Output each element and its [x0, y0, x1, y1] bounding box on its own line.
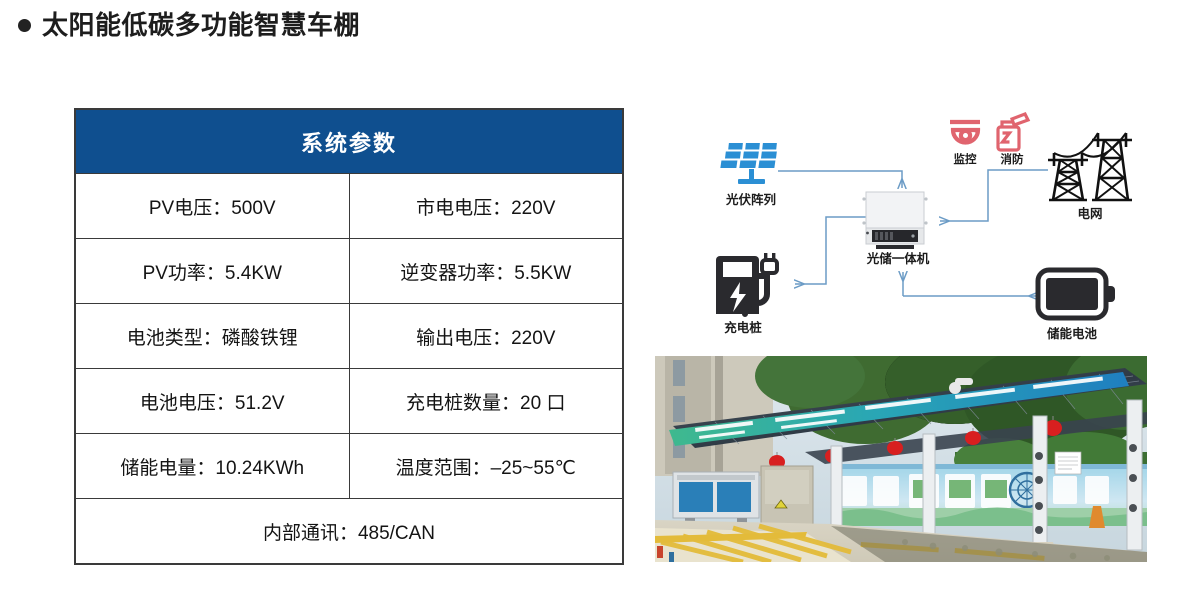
- node-label-inverter: 光储一体机: [866, 251, 930, 266]
- spec-cell-inverter-power: 逆变器功率：5.5KW: [349, 239, 623, 304]
- spec-cell-grid-voltage: 市电电压：220V: [349, 174, 623, 239]
- flow-grid-to-inverter: [940, 170, 1048, 221]
- spec-cell-output-voltage: 输出电压：220V: [349, 304, 623, 369]
- inverter-cabinet-icon: [862, 192, 927, 249]
- fire-extinguisher-icon: [998, 114, 1028, 150]
- spec-cell-pv-power: PV功率：5.4KW: [75, 239, 349, 304]
- battery-icon: [1038, 270, 1115, 318]
- node-label-pv: 光伏阵列: [725, 192, 776, 207]
- flow-inverter-to-charger: [795, 217, 866, 284]
- ev-charger-icon: [716, 253, 777, 314]
- spec-cell-battery-type: 电池类型：磷酸铁锂: [75, 304, 349, 369]
- security-camera-icon: [950, 122, 980, 143]
- bullet-dot-icon: [18, 19, 31, 32]
- flow-pv-to-inverter: [778, 171, 902, 188]
- spec-cell-storage-capacity: 储能电量：10.24KWh: [75, 434, 349, 499]
- page-title: 太阳能低碳多功能智慧车棚: [42, 12, 360, 38]
- table-row: 储能电量：10.24KWh 温度范围：–25~55℃: [75, 434, 623, 499]
- table-row: 内部通讯：485/CAN: [75, 499, 623, 565]
- spec-cell-internal-comm: 内部通讯：485/CAN: [75, 499, 623, 565]
- node-label-monitoring: 监控: [954, 152, 977, 166]
- system-parameters-table: 系统参数 PV电压：500V 市电电压：220V PV功率：5.4KW 逆变器功…: [74, 108, 624, 565]
- transmission-tower-icon: [1048, 133, 1132, 200]
- spec-cell-pv-voltage: PV电压：500V: [75, 174, 349, 239]
- system-flow-diagram: 光伏阵列 监控 消防 电网: [650, 100, 1200, 350]
- table-row: PV电压：500V 市电电压：220V: [75, 174, 623, 239]
- table-row: PV功率：5.4KW 逆变器功率：5.5KW: [75, 239, 623, 304]
- node-label-fire: 消防: [1001, 152, 1024, 166]
- node-label-grid: 电网: [1077, 206, 1102, 221]
- spec-cell-battery-voltage: 电池电压：51.2V: [75, 369, 349, 434]
- table-header-title: 系统参数: [75, 109, 623, 174]
- carport-photo: [655, 356, 1147, 562]
- solar-panel-icon: 光伏阵列: [720, 142, 782, 207]
- table-row: 电池电压：51.2V 充电桩数量：20 口: [75, 369, 623, 434]
- node-label-battery: 储能电池: [1046, 326, 1098, 341]
- page-title-row: 太阳能低碳多功能智慧车棚: [18, 12, 360, 38]
- table-header-row: 系统参数: [75, 109, 623, 174]
- spec-cell-temperature-range: 温度范围：–25~55℃: [349, 434, 623, 499]
- table-row: 电池类型：磷酸铁锂 输出电压：220V: [75, 304, 623, 369]
- node-label-charger: 充电桩: [724, 320, 762, 335]
- spec-cell-charger-count: 充电桩数量：20 口: [349, 369, 623, 434]
